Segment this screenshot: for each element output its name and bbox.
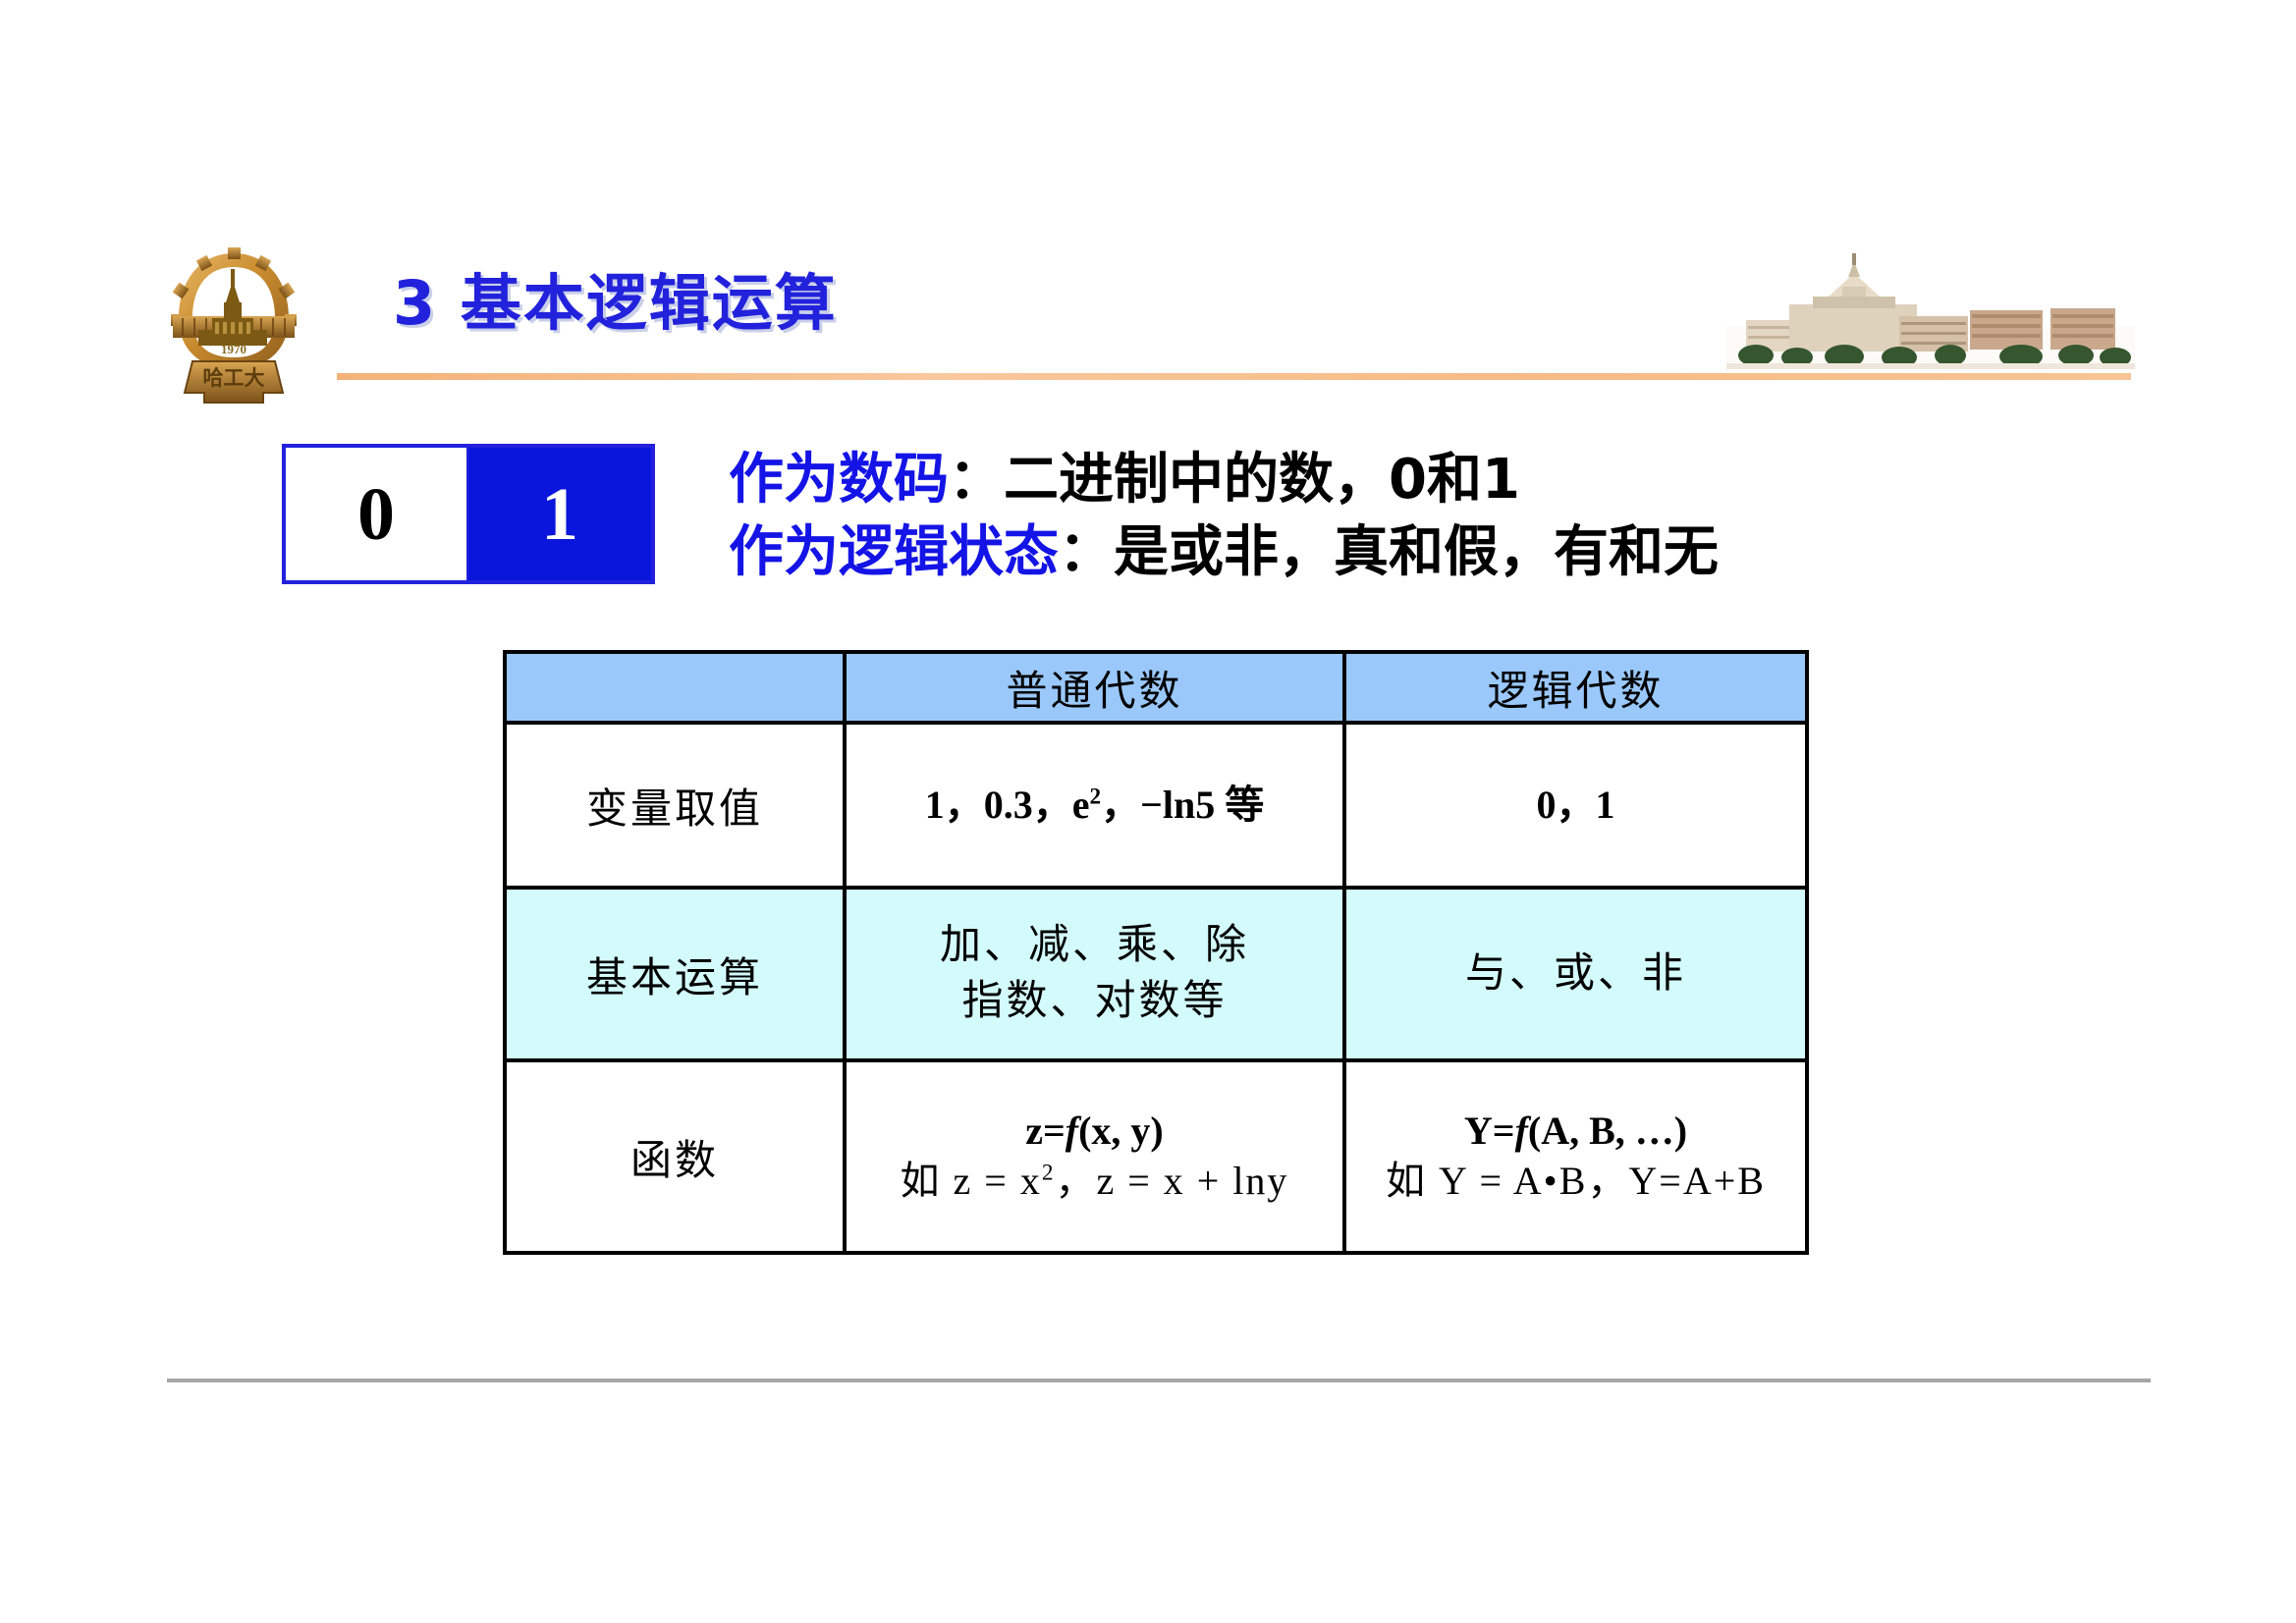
binary-digit-one: 1	[541, 477, 578, 552]
ordinary-ops-line-1: 加、减、乘、除	[847, 918, 1341, 974]
logic-func-f: f	[1515, 1109, 1528, 1153]
logic-values-text: 0，1	[1537, 783, 1615, 827]
svg-text:1970: 1970	[221, 342, 246, 356]
table-header-cell-logic: 逻辑代数	[1344, 652, 1807, 723]
page-title: 3 基本逻辑运算	[393, 253, 838, 342]
footer-divider-rule	[167, 1379, 2151, 1382]
ordinary-values-exponent: 2	[1090, 784, 1102, 810]
table-header-logic-label: 逻辑代数	[1487, 670, 1664, 715]
headline-1-blue: 作为数码	[729, 448, 949, 512]
binary-digit-zero: 0	[357, 477, 395, 552]
table-row-function: 函数 z=f(x, y) 如 z = x2，z = x + lny Y=f(A,…	[505, 1060, 1807, 1253]
ordinary-func-line-2: 如 z = x2，z = x + lny	[847, 1156, 1341, 1208]
headline-2-black: ：是或非，真和假，有和无	[1059, 520, 1719, 584]
ordinary-ops-line-2: 指数、对数等	[847, 974, 1341, 1030]
headline-line-1: 作为数码：二进制中的数，0和1	[729, 444, 2104, 516]
ordinary-func-args: (x, y)	[1078, 1109, 1164, 1153]
table-header-cell-blank	[505, 652, 845, 723]
table-row-basic-operations: 基本运算 加、减、乘、除 指数、对数等 与、或、非	[505, 888, 1807, 1060]
ordinary-func-example-b: ，z = x + lny	[1055, 1159, 1288, 1203]
table-row-variable-values: 变量取值 1，0.3，e2，−ln5 等 0，1	[505, 723, 1807, 888]
row-label-basic-operations: 基本运算	[505, 888, 845, 1060]
logic-func-line-1: Y=f(A, B, …)	[1347, 1106, 1804, 1156]
table-header-cell-ordinary: 普通代数	[845, 652, 1344, 723]
row-label-variable-values: 变量取值	[505, 723, 845, 888]
ordinary-func-line-1: z=f(x, y)	[847, 1106, 1341, 1156]
headline-2-blue: 作为逻辑状态	[729, 520, 1059, 584]
university-emblem-icon: 1970 哈工大	[169, 245, 299, 405]
logic-func-y: Y=	[1464, 1109, 1515, 1153]
headline-line-2: 作为逻辑状态：是或非，真和假，有和无	[729, 516, 2104, 589]
table-header-row: 普通代数 逻辑代数	[505, 652, 1807, 723]
headline-1-black: ：二进制中的数，0和1	[949, 448, 1520, 512]
cell-ordinary-basic-operations: 加、减、乘、除 指数、对数等	[845, 888, 1344, 1060]
svg-text:哈工大: 哈工大	[203, 366, 265, 390]
slide-header: 1970 哈工大 3 基本逻辑运算	[0, 0, 2296, 393]
logic-func-line-2: 如 Y = A•B，Y=A+B	[1347, 1156, 1804, 1208]
binary-digit-box: 0 1	[282, 444, 655, 584]
ordinary-func-f: f	[1066, 1109, 1078, 1153]
cell-ordinary-function: z=f(x, y) 如 z = x2，z = x + lny	[845, 1060, 1344, 1253]
header-divider-rule	[337, 373, 2131, 380]
logic-ops-line-1: 与、或、非	[1347, 947, 1804, 1002]
headline-block: 作为数码：二进制中的数，0和1 作为逻辑状态：是或非，真和假，有和无	[729, 444, 2104, 589]
binary-cell-zero: 0	[286, 448, 468, 580]
cell-logic-basic-operations: 与、或、非	[1344, 888, 1807, 1060]
ordinary-values-text-b: ，−ln5 等	[1101, 783, 1264, 827]
campus-building-photo	[1726, 253, 2135, 369]
table-header-ordinary-label: 普通代数	[1006, 670, 1182, 715]
ordinary-values-text-a: 1，0.3，e	[925, 783, 1090, 827]
cell-logic-function: Y=f(A, B, …) 如 Y = A•B，Y=A+B	[1344, 1060, 1807, 1253]
cell-ordinary-variable-values: 1，0.3，e2，−ln5 等	[845, 723, 1344, 888]
logic-func-args: (A, B, …)	[1528, 1109, 1687, 1153]
ordinary-func-exponent: 2	[1042, 1161, 1056, 1186]
cell-logic-variable-values: 0，1	[1344, 723, 1807, 888]
ordinary-func-example-a: 如 z = x	[901, 1159, 1042, 1203]
algebra-comparison-table: 普通代数 逻辑代数 变量取值 1，0.3，e2，−ln5 等 0，1 基本运算 …	[503, 650, 1809, 1255]
row-label-function: 函数	[505, 1060, 845, 1253]
ordinary-func-z: z=	[1025, 1109, 1066, 1153]
binary-cell-one: 1	[468, 448, 651, 580]
